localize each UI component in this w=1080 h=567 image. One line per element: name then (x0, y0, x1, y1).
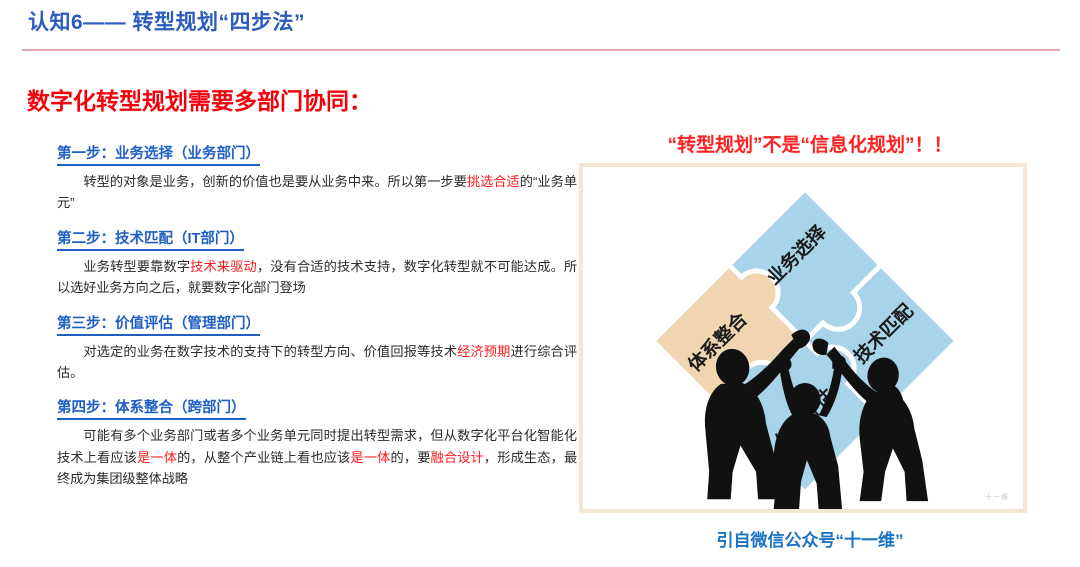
right-content-column: “转型规划”不是“信息化规划”！！ 技术匹配 业务选择 (575, 60, 1080, 567)
figure-caption: 引自微信公众号“十一维” (575, 526, 1045, 551)
step-title: 第二步：技术匹配（IT部门） (57, 227, 244, 251)
body-text: 对选定的业务在数字技术的支持下的转型方向、价值回报等技术 (83, 344, 457, 359)
body-text: 转型的对象是业务，创新的价值也是要从业务中来。所以第一步要 (83, 174, 467, 189)
steps-list: 第一步：业务选择（业务部门） 转型的对象是业务，创新的价值也是要从业务中来。所以… (57, 142, 577, 502)
image-watermark: 十一维 (985, 492, 1009, 502)
puzzle-illustration-figure: 技术匹配 业务选择 价值评估 体系整合 (579, 163, 1027, 513)
step-item: 第一步：业务选择（业务部门） 转型的对象是业务，创新的价值也是要从业务中来。所以… (57, 142, 577, 214)
step-title: 第四步：体系整合（跨部门） (57, 396, 246, 420)
step-title: 第三步：价值评估（管理部门） (57, 312, 260, 336)
highlighted-text: 经济预期 (457, 344, 510, 359)
highlighted-text: 融合设计 (431, 450, 484, 465)
highlighted-text: 技术来驱动 (190, 259, 257, 274)
highlighted-text: 是一体 (350, 450, 390, 465)
step-item: 第二步：技术匹配（IT部门） 业务转型要靠数字技术来驱动，没有合适的技术支持，数… (57, 227, 577, 299)
highlighted-text: 挑选合适 (467, 174, 520, 189)
step-body: 业务转型要靠数字技术来驱动，没有合适的技术支持，数字化转型就不可能达成。所以选好… (57, 256, 577, 299)
step-body: 对选定的业务在数字技术的支持下的转型方向、价值回报等技术经济预期进行综合评估。 (57, 341, 577, 384)
body-text: 的，要 (391, 450, 431, 465)
section-heading: 数字化转型规划需要多部门协同： (27, 82, 372, 116)
header-divider (22, 49, 1060, 51)
body-text: 业务转型要靠数字 (83, 259, 190, 274)
step-title: 第一步：业务选择（业务部门） (57, 142, 260, 166)
step-body: 可能有多个业务部门或者多个业务单元同时提出转型需求，但从数字化平台化智能化技术上… (57, 425, 577, 489)
puzzle-diamond-svg: 技术匹配 业务选择 价值评估 体系整合 (583, 167, 1023, 509)
body-text: 的，从整个产业链上看也应该 (177, 450, 350, 465)
left-content-column: 数字化转型规划需要多部门协同： 第一步：业务选择（业务部门） 转型的对象是业务，… (0, 60, 585, 560)
slide-header: 认知6—— 转型规划“四步法” (0, 0, 1080, 52)
step-item: 第三步：价值评估（管理部门） 对选定的业务在数字技术的支持下的转型方向、价值回报… (57, 312, 577, 384)
right-headline: “转型规划”不是“信息化规划”！！ (575, 130, 1045, 157)
highlighted-text: 是一体 (137, 450, 177, 465)
step-body: 转型的对象是业务，创新的价值也是要从业务中来。所以第一步要挑选合适的“业务单元” (57, 171, 577, 214)
step-item: 第四步：体系整合（跨部门） 可能有多个业务部门或者多个业务单元同时提出转型需求，… (57, 396, 577, 489)
page-title: 认知6—— 转型规划“四步法” (28, 6, 305, 36)
